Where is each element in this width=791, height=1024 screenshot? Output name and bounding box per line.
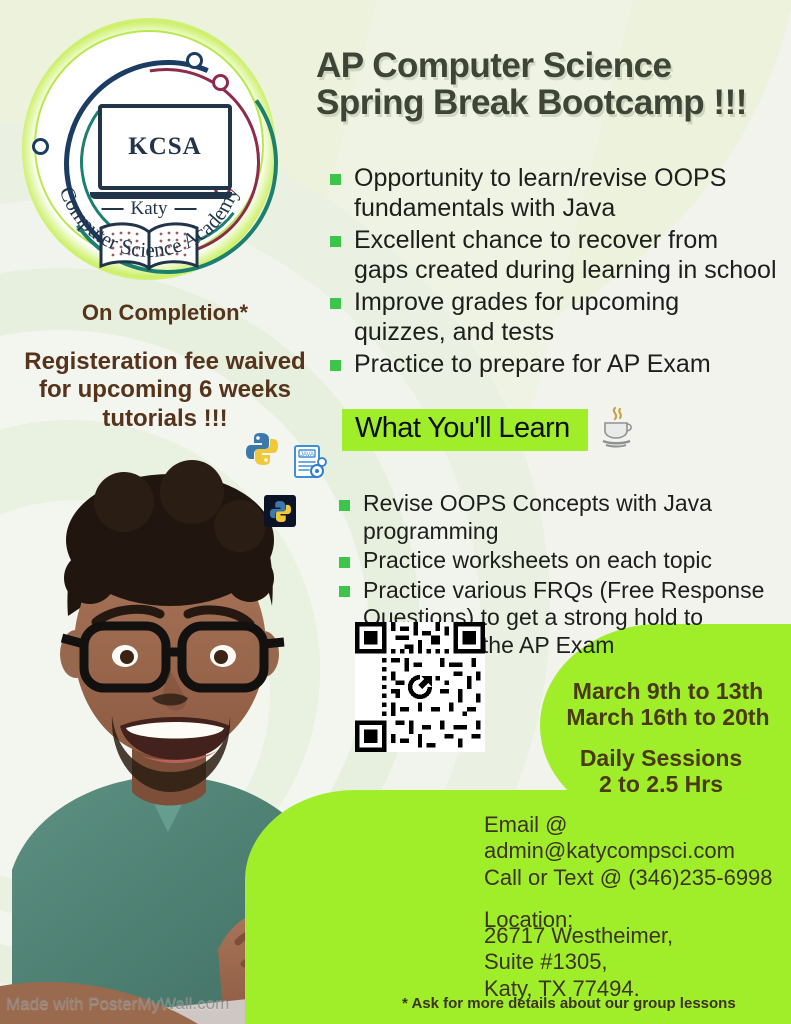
registration-waiver-text: Registeration fee waived for upcoming 6 …	[10, 348, 320, 433]
logo-arc-text: Computer Science Academy	[22, 18, 276, 280]
svg-text:JAVA: JAVA	[300, 452, 314, 458]
headline-line-2: Spring Break Bootcamp !!!	[316, 85, 784, 122]
email-address[interactable]: admin@katycompsci.com	[484, 838, 791, 864]
kcsa-logo: KCSA Katy	[22, 18, 276, 280]
list-item: Practice to prepare for AP Exam	[327, 349, 777, 379]
dates-line-1: March 9th to 13th	[545, 678, 791, 704]
address-line-1: 26717 Westheimer,	[484, 923, 791, 949]
email-label: Email @	[484, 812, 791, 838]
address-line-2: Suite #1305,	[484, 949, 791, 975]
page-title: AP Computer Science Spring Break Bootcam…	[316, 48, 784, 122]
poster-canvas: KCSA Katy	[0, 0, 791, 1024]
sessions-line-2: 2 to 2.5 Hrs	[545, 771, 777, 797]
python-logo-icon	[243, 430, 281, 468]
list-item: Revise OOPS Concepts with Java programmi…	[336, 490, 781, 545]
address-block: 26717 Westheimer, Suite #1305, Katy, TX …	[484, 923, 791, 1002]
qr-code[interactable]	[355, 622, 485, 752]
svg-text:Computer Science Academy: Computer Science Academy	[55, 183, 244, 262]
sessions-line-1: Daily Sessions	[545, 745, 777, 771]
headline-line-1: AP Computer Science	[316, 48, 784, 85]
list-item: Practice worksheets on each topic	[336, 547, 781, 575]
logo-arc-label: Computer Science Academy	[55, 183, 244, 262]
what-youll-learn-badge: What You'll Learn	[342, 409, 588, 451]
program-dates: March 9th to 13th March 16th to 20th	[545, 678, 791, 730]
list-item: Improve grades for upcoming quizzes, and…	[327, 287, 777, 347]
benefits-list: Opportunity to learn/revise OOPS fundame…	[327, 163, 777, 381]
java-coffee-cup-icon	[596, 404, 636, 448]
on-completion-heading: On Completion*	[20, 300, 310, 326]
phone-number[interactable]: Call or Text @ (346)235-6998	[484, 865, 791, 891]
java-document-gear-icon: JAVA	[293, 445, 327, 483]
list-item: Opportunity to learn/revise OOPS fundame…	[327, 163, 777, 223]
session-duration: Daily Sessions 2 to 2.5 Hrs	[545, 745, 777, 797]
python-dark-tile-icon	[264, 495, 296, 527]
footnote: * Ask for more details about our group l…	[402, 995, 790, 1012]
list-item: Excellent chance to recover from gaps cr…	[327, 225, 777, 285]
dates-line-2: March 16th to 20th	[545, 704, 791, 730]
contact-block: Email @ admin@katycompsci.com Call or Te…	[484, 812, 791, 934]
postermywall-watermark: Made with PosterMyWall.com	[6, 994, 229, 1014]
